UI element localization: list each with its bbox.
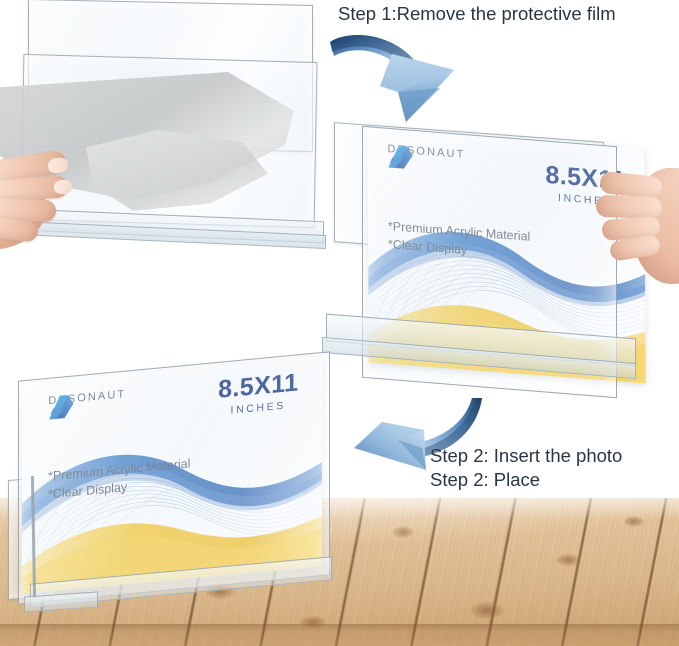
panel-step2-placed-holder: DESONAUT 8.5X11 INCHES *Premium Acrylic …: [8, 358, 338, 628]
step-1-caption: Step 1:Remove the protective film: [338, 2, 616, 26]
left-hand: [0, 120, 116, 250]
step-2-caption: Step 2: Insert the photo Step 2: Place: [430, 444, 622, 493]
fingernail: [47, 156, 69, 174]
panel-step1-peel-film: [0, 0, 330, 262]
fingernail: [54, 180, 73, 195]
step-2-line-2: Step 2: Place: [430, 468, 622, 492]
right-hand: [608, 158, 679, 298]
panel-step2-insert-photo: DESONAUT 8.5X11 INCHES *Premium Acrylic …: [330, 118, 679, 420]
step-2-line-1: Step 2: Insert the photo: [430, 444, 622, 468]
product-infographic: Step 1:Remove the protective film: [0, 0, 679, 646]
